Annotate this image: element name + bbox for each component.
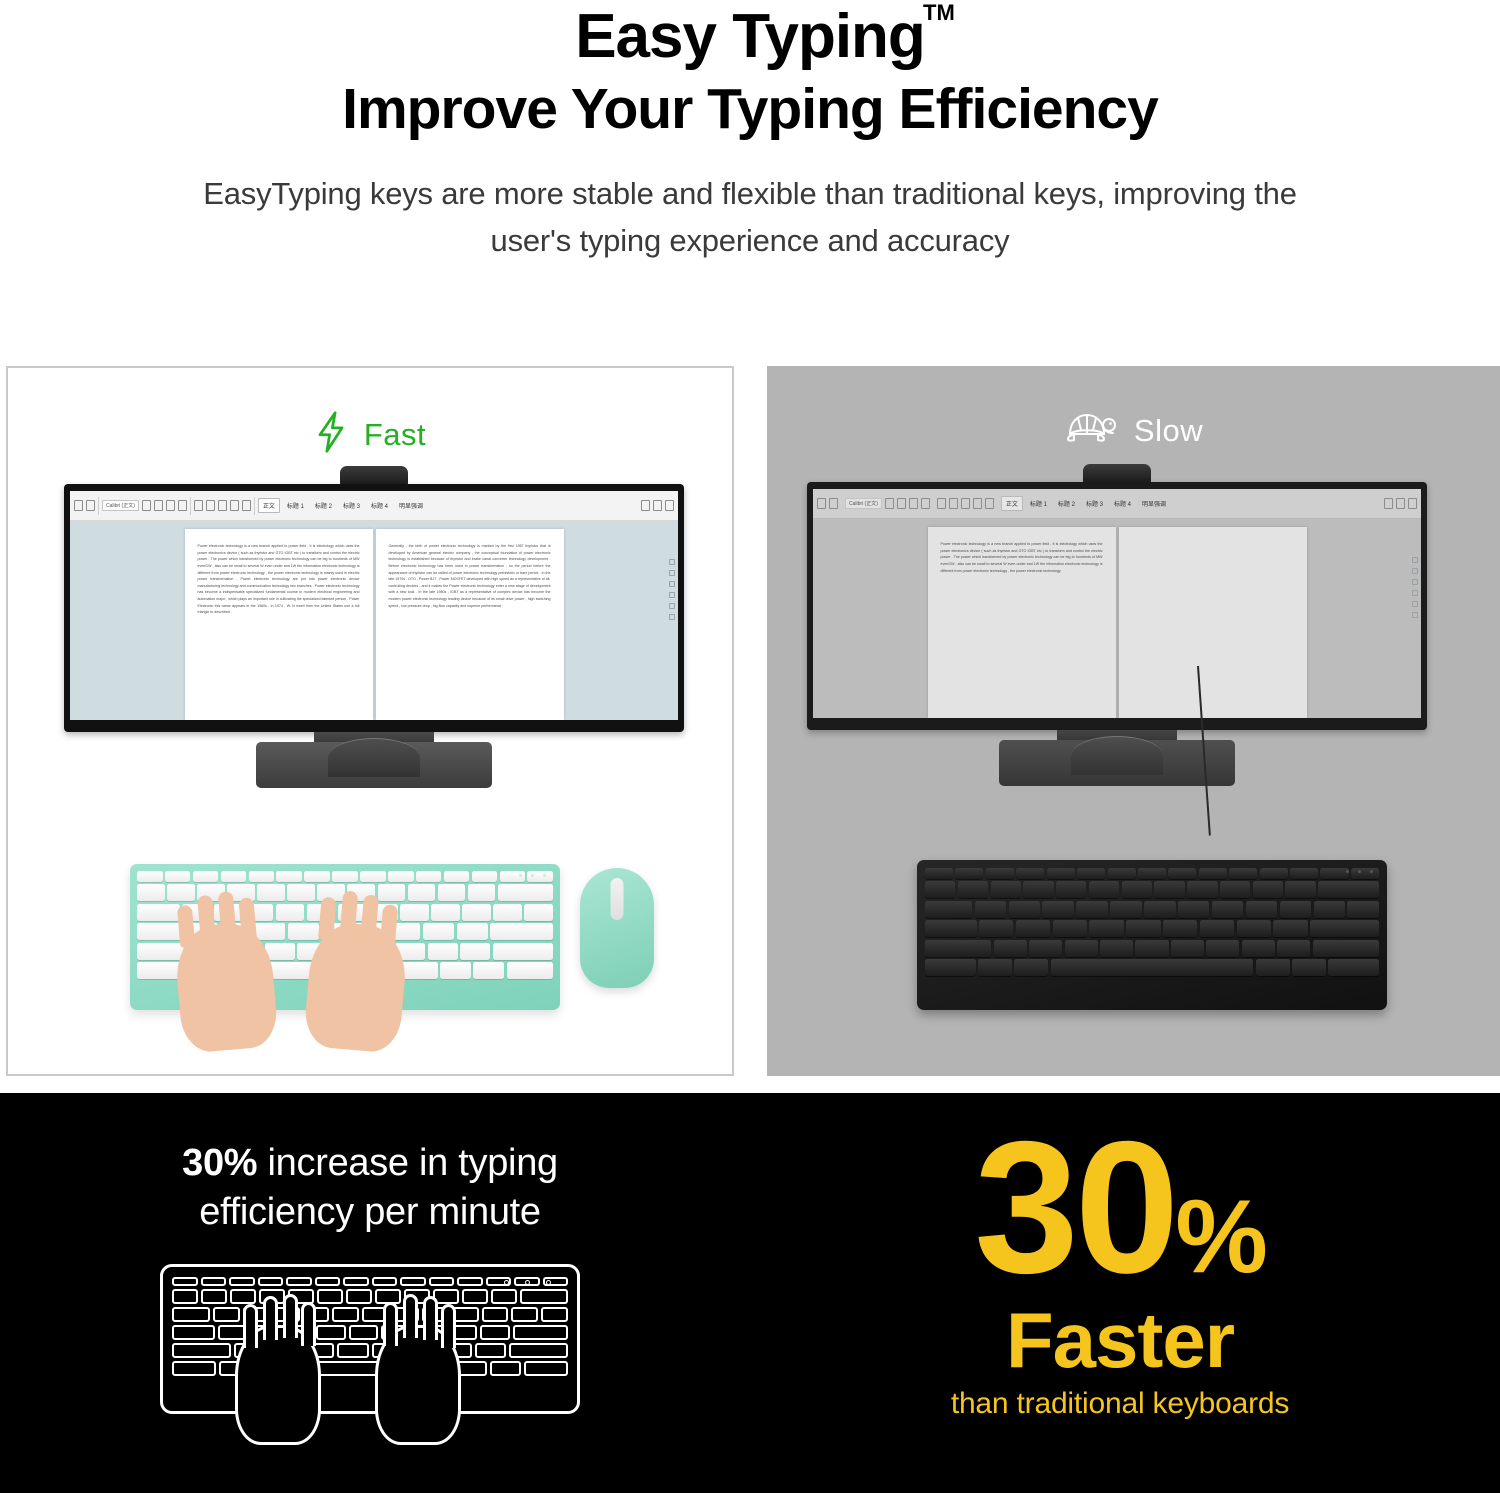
scrolllock-led-icon bbox=[543, 874, 546, 877]
style-heading-1[interactable]: 标题 1 bbox=[283, 499, 308, 512]
key bbox=[991, 881, 1021, 898]
key bbox=[1110, 901, 1142, 918]
keyboard-status-leds bbox=[519, 874, 546, 877]
sidebar-tool-icon[interactable] bbox=[1412, 590, 1418, 596]
key bbox=[1077, 868, 1105, 879]
numlock-led-icon bbox=[1346, 870, 1349, 873]
document-page-2[interactable] bbox=[1119, 527, 1307, 718]
toolbar-divider bbox=[98, 497, 99, 515]
key bbox=[1320, 868, 1348, 879]
scrolllock-led-icon bbox=[546, 1280, 551, 1285]
ctrl-key bbox=[925, 959, 976, 976]
key bbox=[1144, 901, 1176, 918]
key bbox=[378, 884, 406, 901]
undo-icon[interactable] bbox=[817, 498, 826, 509]
key bbox=[1138, 868, 1166, 879]
monitor-fast: Calibri (正文) 正文 标题 1 bbox=[64, 484, 684, 784]
stats-left-block: 30% increase in typing efficiency per mi… bbox=[0, 1093, 740, 1493]
key bbox=[524, 904, 553, 921]
sidebar-tool-icon[interactable] bbox=[669, 614, 675, 620]
capslock-led-icon bbox=[525, 1280, 530, 1285]
monitor-base bbox=[256, 742, 492, 788]
ribbon-toolbar[interactable]: Calibri (正文) 正文 标题 1 bbox=[70, 491, 678, 521]
monitor-screen: Calibri (正文) 正文 标题 1 bbox=[70, 491, 678, 720]
key bbox=[431, 904, 460, 921]
document-page-2[interactable]: Generally , the birth of power electroni… bbox=[376, 529, 564, 720]
key bbox=[1242, 940, 1275, 957]
key bbox=[1076, 901, 1108, 918]
document-page-1[interactable]: Power electronic technology is a new bra… bbox=[185, 529, 373, 720]
key bbox=[167, 884, 195, 901]
right-sidebar-rail[interactable] bbox=[667, 555, 676, 714]
replace-icon[interactable] bbox=[653, 500, 662, 511]
lightning-bolt-icon bbox=[314, 410, 348, 459]
webcam-icon bbox=[1083, 464, 1151, 484]
faster-subtext: than traditional keyboards bbox=[740, 1387, 1500, 1421]
number-list-icon[interactable] bbox=[949, 498, 958, 509]
document-area[interactable]: Power electronic technology is a new bra… bbox=[813, 519, 1421, 718]
key bbox=[1171, 940, 1204, 957]
keyboard-row-function[interactable] bbox=[137, 871, 553, 882]
monitor-bezel: Calibri (正文) 正文 标题 1 bbox=[807, 482, 1427, 730]
toolbar-divider bbox=[190, 497, 191, 515]
key bbox=[254, 923, 285, 940]
key bbox=[408, 884, 436, 901]
webcam-icon bbox=[340, 466, 408, 486]
key bbox=[332, 871, 358, 882]
document-page-1-text: Power electronic technology is a new bra… bbox=[198, 543, 360, 616]
scrolllock-led-icon bbox=[1370, 870, 1373, 873]
sidebar-tool-icon[interactable] bbox=[1412, 601, 1418, 607]
art-row-numbers bbox=[172, 1289, 568, 1304]
key bbox=[444, 871, 470, 882]
key bbox=[979, 920, 1013, 937]
keyboard-row-bottom[interactable] bbox=[925, 959, 1379, 976]
monitor-slow: Calibri (正文) 正文 标题 1 bbox=[807, 482, 1427, 782]
toolbar-divider bbox=[841, 495, 842, 513]
key bbox=[1273, 920, 1307, 937]
key bbox=[193, 871, 219, 882]
style-emphasis[interactable]: 明显强调 bbox=[1138, 497, 1170, 510]
key bbox=[1187, 881, 1217, 898]
text-color-icon[interactable] bbox=[178, 500, 187, 511]
key bbox=[955, 868, 983, 879]
ribbon-toolbar[interactable]: Calibri (正文) 正文 标题 1 bbox=[813, 489, 1421, 519]
key bbox=[1277, 940, 1310, 957]
paste-icon[interactable] bbox=[829, 498, 838, 509]
key bbox=[1237, 920, 1271, 937]
art-row-bottom bbox=[172, 1361, 568, 1376]
sidebar-tool-icon[interactable] bbox=[669, 592, 675, 598]
bullet-list-icon[interactable] bbox=[937, 498, 946, 509]
keyboard-row-shift[interactable] bbox=[925, 940, 1379, 957]
keyboard-row-function[interactable] bbox=[925, 868, 1379, 879]
stat-sentence: 30% increase in typing efficiency per mi… bbox=[0, 1139, 740, 1236]
key bbox=[1009, 901, 1041, 918]
fast-tag-label: Fast bbox=[364, 417, 426, 453]
sidebar-tool-icon[interactable] bbox=[1412, 579, 1418, 585]
comparison-panel-fast: Fast Calibri (正文) bbox=[6, 366, 734, 1076]
capslock-led-icon bbox=[531, 874, 534, 877]
bold-icon[interactable] bbox=[142, 500, 151, 511]
text-color-icon[interactable] bbox=[921, 498, 930, 509]
right-sidebar-rail[interactable] bbox=[1410, 553, 1419, 712]
toolbar-divider bbox=[933, 495, 934, 513]
key bbox=[1047, 868, 1075, 879]
stat-rest-line1: increase in typing bbox=[257, 1142, 558, 1184]
sidebar-tool-icon[interactable] bbox=[669, 570, 675, 576]
style-heading-3[interactable]: 标题 3 bbox=[339, 499, 364, 512]
keyboard-row-home[interactable] bbox=[925, 920, 1379, 937]
numlock-led-icon bbox=[504, 1280, 509, 1285]
sidebar-tool-icon[interactable] bbox=[1412, 557, 1418, 563]
capslock-key bbox=[925, 920, 977, 937]
key bbox=[137, 871, 163, 882]
key bbox=[1122, 881, 1152, 898]
key bbox=[460, 943, 490, 960]
key bbox=[1178, 901, 1210, 918]
key bbox=[1163, 920, 1197, 937]
art-right-hand-icon bbox=[375, 1325, 461, 1445]
trademark-symbol: TM bbox=[923, 2, 955, 24]
key bbox=[287, 884, 315, 901]
key bbox=[1016, 920, 1050, 937]
key bbox=[276, 904, 305, 921]
alt-key bbox=[1256, 959, 1290, 976]
key bbox=[1200, 920, 1234, 937]
document-page-1[interactable]: Power electronic technology is a new bra… bbox=[928, 527, 1116, 718]
key bbox=[1229, 868, 1257, 879]
right-shift-key bbox=[1313, 940, 1379, 957]
key bbox=[1260, 868, 1288, 879]
document-area[interactable]: Power electronic technology is a new bra… bbox=[70, 521, 678, 720]
key bbox=[975, 901, 1007, 918]
brand-name: Easy Typing bbox=[575, 2, 925, 71]
key bbox=[1089, 920, 1123, 937]
slow-tag: Slow bbox=[767, 408, 1500, 453]
style-heading-4[interactable]: 标题 4 bbox=[1110, 497, 1135, 510]
alt-key bbox=[440, 962, 471, 979]
key bbox=[1206, 940, 1239, 957]
key bbox=[1199, 868, 1227, 879]
key bbox=[1154, 881, 1184, 898]
key bbox=[925, 881, 955, 898]
key bbox=[1168, 868, 1196, 879]
comparison-section: Fast Calibri (正文) bbox=[0, 366, 1500, 1078]
spacebar-key bbox=[1051, 959, 1254, 976]
select-icon[interactable] bbox=[1408, 498, 1417, 509]
stat-line2: efficiency per minute bbox=[199, 1191, 541, 1233]
enter-key bbox=[490, 923, 553, 940]
key bbox=[1280, 901, 1312, 918]
key bbox=[925, 868, 953, 879]
key bbox=[1212, 901, 1244, 918]
art-status-leds bbox=[504, 1280, 551, 1285]
stat-highlight: 30% bbox=[182, 1142, 257, 1184]
key bbox=[1056, 881, 1086, 898]
key bbox=[360, 871, 386, 882]
fn-key bbox=[473, 962, 504, 979]
key bbox=[1290, 868, 1318, 879]
paste-icon[interactable] bbox=[86, 500, 95, 511]
sidebar-tool-icon[interactable] bbox=[669, 603, 675, 609]
big-percentage: 30% bbox=[740, 1117, 1500, 1297]
italic-icon[interactable] bbox=[897, 498, 906, 509]
key bbox=[457, 923, 488, 940]
style-normal[interactable]: 正文 bbox=[258, 498, 280, 513]
key bbox=[1016, 868, 1044, 879]
align-left-icon[interactable] bbox=[218, 500, 227, 511]
sidebar-tool-icon[interactable] bbox=[1412, 612, 1418, 618]
style-heading-2[interactable]: 标题 2 bbox=[1054, 497, 1079, 510]
keyboard-with-hands-icon bbox=[160, 1264, 580, 1414]
key bbox=[165, 871, 191, 882]
monitor-bezel: Calibri (正文) 正文 标题 1 bbox=[64, 484, 684, 732]
percent-sign: % bbox=[1175, 1179, 1265, 1295]
art-row-home bbox=[172, 1325, 568, 1340]
key bbox=[1029, 940, 1062, 957]
key bbox=[416, 871, 442, 882]
find-icon[interactable] bbox=[1384, 498, 1393, 509]
toolbar-divider bbox=[997, 495, 998, 513]
key bbox=[423, 923, 454, 940]
key bbox=[1347, 901, 1379, 918]
key bbox=[994, 940, 1027, 957]
key bbox=[1285, 881, 1315, 898]
tab-key bbox=[137, 904, 180, 921]
faster-label: Faster bbox=[740, 1301, 1500, 1379]
keyboard-row-qwerty[interactable] bbox=[925, 901, 1379, 918]
style-heading-3[interactable]: 标题 3 bbox=[1082, 497, 1107, 510]
align-center-icon[interactable] bbox=[230, 500, 239, 511]
key bbox=[288, 923, 319, 940]
key bbox=[257, 884, 285, 901]
key bbox=[468, 884, 496, 901]
capslock-key bbox=[137, 923, 184, 940]
key bbox=[1089, 881, 1119, 898]
key bbox=[1108, 868, 1136, 879]
easytyping-mouse[interactable] bbox=[580, 868, 654, 988]
key bbox=[221, 871, 247, 882]
key bbox=[493, 904, 522, 921]
keyboard-status-leds bbox=[1346, 870, 1373, 873]
italic-icon[interactable] bbox=[154, 500, 163, 511]
key bbox=[428, 943, 458, 960]
big-number: 30 bbox=[974, 1102, 1175, 1312]
traditional-keyboard[interactable] bbox=[917, 860, 1387, 1010]
fast-tag: Fast bbox=[8, 410, 732, 459]
number-list-icon[interactable] bbox=[206, 500, 215, 511]
document-page-2-text: Generally , the birth of power electroni… bbox=[389, 543, 551, 609]
style-heading-2[interactable]: 标题 2 bbox=[311, 499, 336, 512]
bold-icon[interactable] bbox=[885, 498, 894, 509]
toolbar-divider bbox=[254, 497, 255, 515]
key bbox=[958, 881, 988, 898]
style-heading-4[interactable]: 标题 4 bbox=[367, 499, 392, 512]
backspace-key bbox=[498, 884, 553, 901]
style-heading-1[interactable]: 标题 1 bbox=[1026, 497, 1051, 510]
key bbox=[1253, 881, 1283, 898]
key bbox=[1065, 940, 1098, 957]
key bbox=[1053, 920, 1087, 937]
document-page-1-text: Power electronic technology is a new bra… bbox=[941, 541, 1103, 574]
sidebar-tool-icon[interactable] bbox=[1412, 568, 1418, 574]
key bbox=[1246, 901, 1278, 918]
comparison-panel-slow: Slow Calibri (正文) bbox=[767, 366, 1500, 1076]
key bbox=[249, 871, 275, 882]
key bbox=[986, 868, 1014, 879]
key bbox=[1126, 920, 1160, 937]
find-icon[interactable] bbox=[641, 500, 650, 511]
sidebar-tool-icon[interactable] bbox=[669, 559, 675, 565]
fn-key bbox=[1292, 959, 1326, 976]
key bbox=[438, 884, 466, 901]
backspace-key bbox=[1318, 881, 1379, 898]
font-name-box[interactable]: Calibri (正文) bbox=[102, 500, 139, 511]
key bbox=[462, 904, 491, 921]
underline-icon[interactable] bbox=[166, 500, 175, 511]
font-name-box[interactable]: Calibri (正文) bbox=[845, 498, 882, 509]
numlock-led-icon bbox=[519, 874, 522, 877]
tab-key bbox=[925, 901, 972, 918]
key bbox=[400, 904, 429, 921]
line-spacing-icon[interactable] bbox=[242, 500, 251, 511]
underline-icon[interactable] bbox=[909, 498, 918, 509]
art-row-shift bbox=[172, 1343, 568, 1358]
align-left-icon[interactable] bbox=[961, 498, 970, 509]
undo-icon[interactable] bbox=[74, 500, 83, 511]
capslock-led-icon bbox=[1358, 870, 1361, 873]
left-shift-key bbox=[925, 940, 991, 957]
art-row-qwerty bbox=[172, 1307, 568, 1322]
select-icon[interactable] bbox=[665, 500, 674, 511]
stats-right-block: 30% Faster than traditional keyboards bbox=[740, 1093, 1500, 1493]
alt-key bbox=[1014, 959, 1048, 976]
enter-key bbox=[1310, 920, 1379, 937]
bullet-list-icon[interactable] bbox=[194, 500, 203, 511]
line-spacing-icon[interactable] bbox=[985, 498, 994, 509]
keyboard-row-numbers[interactable] bbox=[925, 881, 1379, 898]
align-center-icon[interactable] bbox=[973, 498, 982, 509]
key bbox=[276, 871, 302, 882]
key bbox=[1220, 881, 1250, 898]
turtle-icon bbox=[1064, 408, 1118, 453]
monitor-screen: Calibri (正文) 正文 标题 1 bbox=[813, 489, 1421, 718]
page-header: Easy Typing TM Improve Your Typing Effic… bbox=[0, 0, 1500, 264]
ctrl-key bbox=[1328, 959, 1379, 976]
win-key bbox=[978, 959, 1012, 976]
key bbox=[1314, 901, 1346, 918]
replace-icon[interactable] bbox=[1396, 498, 1405, 509]
sidebar-tool-icon[interactable] bbox=[669, 581, 675, 587]
style-normal[interactable]: 正文 bbox=[1001, 496, 1023, 511]
page-subheadline: EasyTyping keys are more stable and flex… bbox=[160, 170, 1340, 264]
key bbox=[1135, 940, 1168, 957]
key bbox=[137, 884, 165, 901]
style-emphasis[interactable]: 明显强调 bbox=[395, 499, 427, 512]
brand-title: Easy Typing TM bbox=[575, 6, 925, 68]
key bbox=[1100, 940, 1133, 957]
monitor-base bbox=[999, 740, 1235, 786]
key bbox=[472, 871, 498, 882]
right-shift-key bbox=[493, 943, 553, 960]
ctrl-key bbox=[507, 962, 553, 979]
stats-banner: 30% increase in typing efficiency per mi… bbox=[0, 1093, 1500, 1493]
key bbox=[388, 871, 414, 882]
page-headline: Improve Your Typing Efficiency bbox=[0, 80, 1500, 140]
key bbox=[1023, 881, 1053, 898]
slow-tag-label: Slow bbox=[1134, 413, 1203, 449]
art-left-hand-icon bbox=[235, 1325, 321, 1445]
key bbox=[304, 871, 330, 882]
key bbox=[1042, 901, 1074, 918]
